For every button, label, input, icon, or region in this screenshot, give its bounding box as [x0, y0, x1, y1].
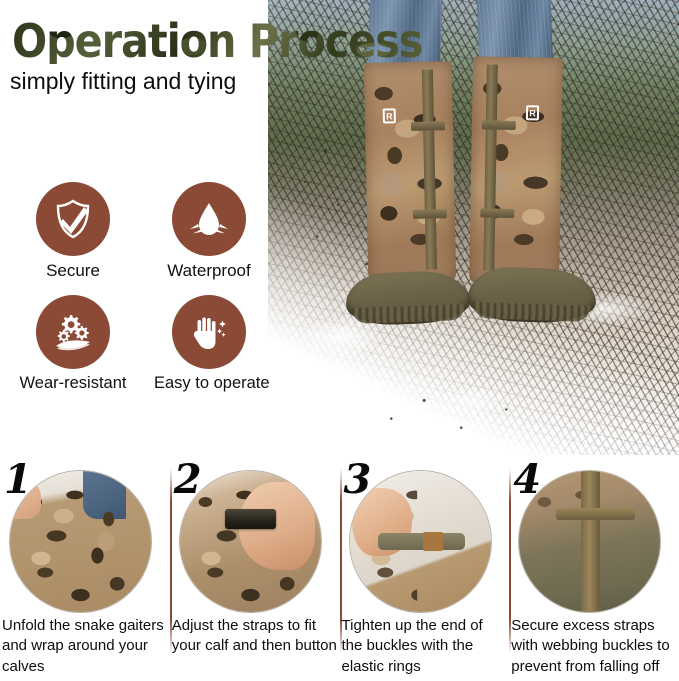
step-panel-3: 3 Tighten up the end of the buckles with… — [340, 458, 510, 681]
step-number: 1 — [4, 460, 32, 500]
page-subtitle: simply fitting and tying — [10, 68, 236, 96]
buckle-graphic — [225, 509, 276, 529]
gaiter-strap-horizontal — [480, 208, 514, 218]
gaiter-strap-horizontal — [413, 209, 447, 219]
step-panel-group: 1 Unfold the snake gaiters and wrap arou… — [0, 458, 679, 681]
feature-row: Wear-resistant — [18, 295, 268, 393]
gaiter-strap-vertical — [483, 64, 498, 270]
feature-badge-group: Secure Waterproof — [18, 182, 268, 393]
velcro-strap-graphic — [378, 533, 465, 550]
step-number: 3 — [344, 460, 372, 500]
brand-logo-mark: R — [526, 105, 539, 120]
water-drop-icon — [186, 196, 232, 242]
step-number: 2 — [174, 460, 202, 500]
webbing-strap-graphic — [581, 471, 599, 612]
feature-waterproof: Waterproof — [154, 182, 264, 281]
brand-logo-mark: R — [383, 108, 396, 123]
step-panel-4: 4 Secure excess straps with webbing buck… — [509, 458, 679, 681]
feature-easy-to-operate: Easy to operate — [154, 295, 264, 393]
step-caption: Adjust the straps to fit your calf and t… — [172, 616, 338, 657]
step-caption: Unfold the snake gaiters and wrap around… — [2, 616, 168, 677]
step-number: 4 — [513, 460, 541, 500]
gaiter-left: R — [364, 61, 457, 285]
step-panel-1: 1 Unfold the snake gaiters and wrap arou… — [0, 458, 170, 681]
step-caption: Tighten up the end of the buckles with t… — [342, 616, 508, 677]
hero-product-photo: R R — [268, 0, 679, 455]
feature-label: Waterproof — [154, 261, 264, 281]
webbing-buckle-graphic — [556, 508, 635, 521]
product-infographic: R R Operation Process simply fitting and… — [0, 0, 679, 681]
boot-left — [345, 270, 471, 326]
gaiter-strap-horizontal — [411, 121, 445, 131]
feature-wear-resistant: Wear-resistant — [18, 295, 128, 393]
gaiter-strap-vertical — [422, 69, 437, 269]
gaiter-strap-horizontal — [482, 120, 516, 130]
page-title: Operation Process — [12, 18, 422, 64]
step-caption: Secure excess straps with webbing buckle… — [511, 616, 677, 677]
feature-label: Easy to operate — [154, 374, 264, 393]
feature-label: Secure — [18, 261, 128, 281]
step-panel-2: 2 Adjust the straps to fit your calf and… — [170, 458, 340, 681]
elastic-ring-graphic — [423, 532, 443, 550]
shield-check-icon — [50, 196, 96, 242]
feature-row: Secure Waterproof — [18, 182, 268, 281]
gears-fabric-icon — [50, 309, 96, 355]
feature-badge-circle — [172, 295, 246, 369]
feature-badge-circle — [36, 182, 110, 256]
hand-sparkle-icon — [186, 309, 232, 355]
feature-badge-circle — [172, 182, 246, 256]
feature-badge-circle — [36, 295, 110, 369]
feature-secure: Secure — [18, 182, 128, 281]
gaiter-right: R — [469, 56, 563, 286]
feature-label: Wear-resistant — [18, 374, 128, 393]
